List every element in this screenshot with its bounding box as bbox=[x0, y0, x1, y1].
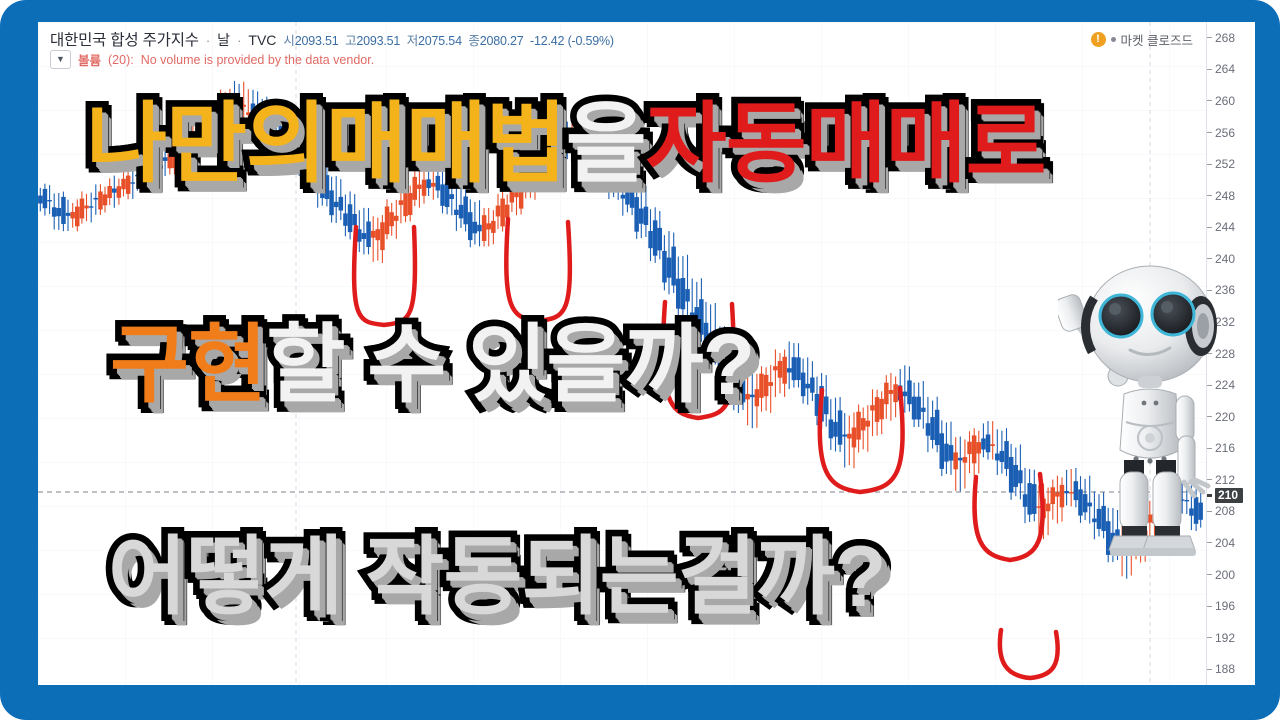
robot-head bbox=[1086, 266, 1217, 382]
headline-line-2-segment-1: 할 수 있을까?할 수 있을까?할 수 있을까? bbox=[266, 322, 754, 408]
headline-fill: 할 수 있을까? bbox=[266, 322, 754, 408]
volume-study-length: (20): bbox=[108, 53, 134, 67]
price-tick-label: 268 bbox=[1215, 31, 1235, 45]
headline-line-1-segment-2: 을 을 을 bbox=[566, 100, 646, 188]
headline-line-3-segment-0: 어떻게 작동되는걸까?어떻게 작동되는걸까?어떻게 작동되는걸까? bbox=[108, 534, 886, 620]
price-tick-label: 256 bbox=[1215, 126, 1235, 140]
tick-dash bbox=[1207, 669, 1212, 670]
robot-eye-left bbox=[1100, 295, 1142, 337]
headline-line-1-segment-3: 자동매매로자동매매로자동매매로 bbox=[646, 100, 1046, 188]
chart-area[interactable]: 대한민국 합성 주가지수 · 날 · TVC 시2093.51 고2093.51… bbox=[38, 22, 1255, 685]
ohlc-values: 시2093.51 고2093.51 저2075.54 종2080.27 -12.… bbox=[283, 30, 614, 49]
price-tick: 260 bbox=[1207, 94, 1255, 108]
tick-dash bbox=[1207, 132, 1212, 133]
robot-torso bbox=[1120, 376, 1180, 464]
symbol-title[interactable]: 대한민국 합성 주가지수 bbox=[50, 28, 199, 50]
volume-study-row[interactable]: ▼ 볼륨 (20): No volume is provided by the … bbox=[50, 50, 374, 69]
price-tick-label: 244 bbox=[1215, 220, 1235, 234]
close-label: 종 bbox=[468, 34, 479, 48]
high-value: 2093.51 bbox=[356, 34, 400, 48]
chart-frame: 대한민국 합성 주가지수 · 날 · TVC 시2093.51 고2093.51… bbox=[38, 22, 1255, 685]
robot-mascot bbox=[1058, 254, 1243, 574]
tick-dash bbox=[1207, 37, 1212, 38]
headline-line-1-segment-0: 나만의 나만의 나만의 bbox=[86, 100, 326, 188]
tick-dash bbox=[1207, 606, 1212, 607]
price-tick-label: 248 bbox=[1215, 189, 1235, 203]
tick-dash bbox=[1207, 574, 1212, 575]
legend-separator-1: · bbox=[206, 33, 210, 48]
tick-dash bbox=[1207, 69, 1212, 70]
status-dot-icon bbox=[1111, 37, 1116, 42]
headline-line-2-segment-0: 구현구현구현 bbox=[110, 322, 266, 408]
open-label: 시 bbox=[283, 34, 294, 48]
price-tick: 188 bbox=[1207, 662, 1255, 676]
robot-eye-right bbox=[1152, 293, 1194, 335]
price-tick-label: 196 bbox=[1215, 599, 1235, 613]
exchange-label: TVC bbox=[248, 32, 276, 48]
market-status[interactable]: ! 마켓 클로즈드 bbox=[1091, 30, 1193, 49]
headline-fill: 나만의 bbox=[86, 100, 326, 188]
change-percent: (-0.59%) bbox=[568, 34, 614, 48]
headline-fill: 을 bbox=[566, 100, 646, 188]
high-label: 고 bbox=[345, 34, 356, 48]
legend-separator-2: · bbox=[237, 33, 241, 48]
price-tick: 268 bbox=[1207, 31, 1255, 45]
headline-fill: 자동매매로 bbox=[646, 100, 1046, 188]
headline-line-2: 구현구현구현할 수 있을까?할 수 있을까?할 수 있을까? bbox=[110, 322, 754, 408]
price-tick: 252 bbox=[1207, 157, 1255, 171]
chevron-down-icon[interactable]: ▼ bbox=[50, 50, 71, 69]
headline-fill: 구현 bbox=[110, 322, 266, 408]
headline-fill: 매매법 bbox=[326, 100, 566, 188]
volume-study-name[interactable]: 볼륨 bbox=[78, 50, 101, 69]
price-tick: 196 bbox=[1207, 599, 1255, 613]
tick-dash bbox=[1207, 164, 1212, 165]
youtube-thumbnail: 대한민국 합성 주가지수 · 날 · TVC 시2093.51 고2093.51… bbox=[0, 0, 1280, 720]
price-tick: 264 bbox=[1207, 62, 1255, 76]
open-value: 2093.51 bbox=[295, 34, 339, 48]
price-tick: 248 bbox=[1207, 189, 1255, 203]
tick-dash bbox=[1207, 227, 1212, 228]
chart-legend-header[interactable]: 대한민국 합성 주가지수 · 날 · TVC 시2093.51 고2093.51… bbox=[50, 28, 614, 50]
chart-resolution[interactable]: 날 bbox=[217, 30, 230, 50]
headline-line-3: 어떻게 작동되는걸까?어떻게 작동되는걸까?어떻게 작동되는걸까? bbox=[108, 534, 886, 620]
price-tick: 256 bbox=[1207, 126, 1255, 140]
change-value: -12.42 bbox=[530, 34, 564, 48]
low-value: 2075.54 bbox=[418, 34, 462, 48]
volume-study-message: No volume is provided by the data vendor… bbox=[141, 53, 374, 67]
warning-icon: ! bbox=[1091, 32, 1106, 47]
price-tick: 244 bbox=[1207, 220, 1255, 234]
low-label: 저 bbox=[407, 34, 418, 48]
price-tick: 192 bbox=[1207, 631, 1255, 645]
price-tick-label: 260 bbox=[1215, 94, 1235, 108]
close-value: 2080.27 bbox=[480, 34, 524, 48]
price-tick-label: 188 bbox=[1215, 662, 1235, 676]
market-status-label: 마켓 클로즈드 bbox=[1121, 30, 1193, 49]
tick-dash bbox=[1207, 195, 1212, 196]
price-tick-label: 252 bbox=[1215, 157, 1235, 171]
tick-dash bbox=[1207, 637, 1212, 638]
headline-line-1: 나만의 나만의 나만의 매매법매매법매매법을 을 을 자동매매로자동매매로자동매… bbox=[86, 100, 1046, 188]
price-tick-label: 192 bbox=[1215, 631, 1235, 645]
tick-dash bbox=[1207, 100, 1212, 101]
headline-fill: 어떻게 작동되는걸까? bbox=[108, 534, 886, 620]
price-tick-label: 264 bbox=[1215, 62, 1235, 76]
headline-line-1-segment-1: 매매법매매법매매법 bbox=[326, 100, 566, 188]
